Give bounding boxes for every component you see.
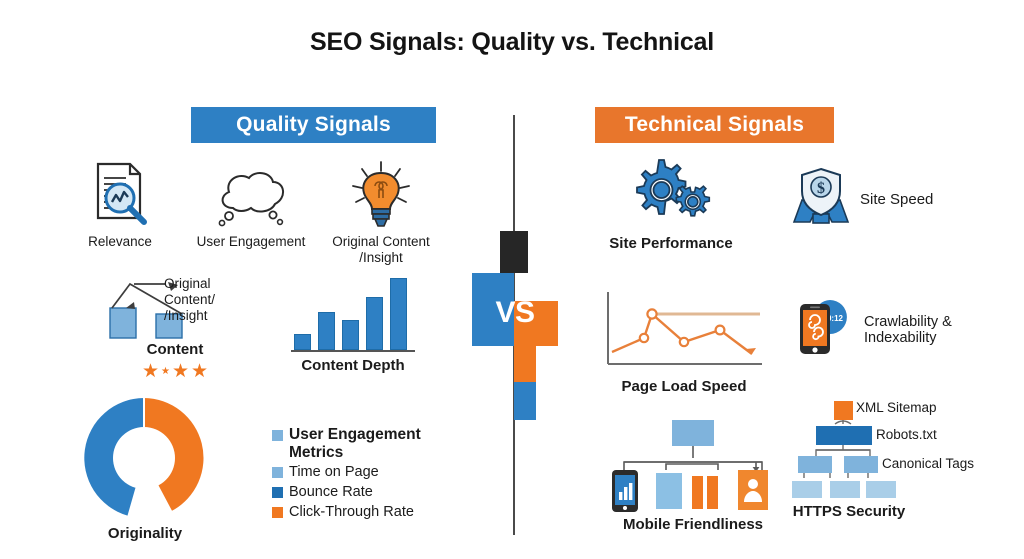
legend-swatch xyxy=(272,467,283,478)
quality-item-content-depth: Content Depth xyxy=(291,280,415,374)
document-magnifier-icon xyxy=(72,158,168,230)
technical-item-label: Site Speed xyxy=(860,192,933,208)
quality-item-label: Originality xyxy=(80,526,210,542)
technical-item-label: Crawlability & Indexability xyxy=(864,314,952,346)
lightbulb-icon xyxy=(327,158,435,230)
technical-item-label: Mobile Friendliness xyxy=(604,517,782,533)
quality-item-label: Content xyxy=(100,342,250,358)
quality-item-user-engagement: User Engagement xyxy=(190,158,312,250)
hierarchy-tree-icon: XML Sitemap Robots.txt Canonical Tags xyxy=(790,396,1014,504)
bar-arrow-chart-icon: Original Content/ /Insight xyxy=(100,278,250,340)
shield-dollar-icon: $ xyxy=(790,166,852,233)
technical-signals-banner: Technical Signals xyxy=(595,107,834,143)
legend-label: Click-Through Rate xyxy=(289,503,414,522)
bar xyxy=(390,278,407,350)
bar xyxy=(366,297,383,350)
star-icon: ★ xyxy=(161,366,170,377)
hierarchy-label-canonical-tags: Canonical Tags xyxy=(882,456,974,471)
technical-item-label: Site Performance xyxy=(608,236,734,252)
legend-swatch xyxy=(272,487,283,498)
legend-swatch xyxy=(272,430,283,441)
bar xyxy=(294,334,311,350)
quality-item-label: Relevance xyxy=(72,234,168,250)
quality-item-original-content: Original Content /Insight xyxy=(327,158,435,266)
mobile-crawl-icon: 0:12 xyxy=(794,296,856,363)
line-chart-icon xyxy=(600,290,768,377)
mobile-tree-icon xyxy=(604,418,782,517)
hierarchy-label-xml-sitemap: XML Sitemap xyxy=(856,400,937,415)
donut-chart-icon xyxy=(80,394,208,522)
star-icon: ★ xyxy=(142,360,159,383)
legend-item: Time on Page xyxy=(272,463,452,482)
quality-item-relevance: Relevance xyxy=(72,158,168,250)
quality-item-label: User Engagement xyxy=(190,234,312,250)
legend-item: Bounce Rate xyxy=(272,483,452,502)
quality-item-label: Original Content /Insight xyxy=(327,234,435,266)
vs-badge-orange-stem xyxy=(514,346,536,382)
technical-item-mobile-friendliness: Mobile Friendliness xyxy=(604,418,782,533)
gears-icon xyxy=(608,158,734,232)
legend-label: Bounce Rate xyxy=(289,483,373,502)
bar xyxy=(318,312,335,350)
technical-item-site-performance: Site Performance xyxy=(608,158,734,252)
vs-badge: VS xyxy=(472,231,558,411)
svg-text:$: $ xyxy=(817,180,825,197)
bar-chart-icon xyxy=(291,280,415,352)
quality-item-content: Original Content/ /Insight Content ★ ★ ★… xyxy=(100,278,250,383)
legend-swatch xyxy=(272,507,283,518)
content-annotation: Original Content/ /Insight xyxy=(164,276,215,324)
content-rating-stars: ★ ★ ★ ★ xyxy=(100,360,250,383)
quality-item-originality: Originality xyxy=(80,394,210,542)
star-icon: ★ xyxy=(191,360,208,383)
bar xyxy=(342,320,359,350)
hierarchy-label-robots-txt: Robots.txt xyxy=(876,427,937,442)
vs-label: VS xyxy=(472,289,558,337)
technical-item-crawlability: 0:12 Crawlability & Indexability xyxy=(794,296,1020,363)
legend-title: User Engagement Metrics xyxy=(289,426,452,462)
technical-item-https-security: XML Sitemap Robots.txt Canonical Tags HT… xyxy=(790,396,1014,520)
thought-cloud-icon xyxy=(190,158,312,230)
infographic-canvas: SEO Signals: Quality vs. Technical Quali… xyxy=(0,0,1024,559)
vs-badge-dark-segment xyxy=(500,231,528,273)
technical-item-label: Page Load Speed xyxy=(600,379,768,395)
legend-label: Time on Page xyxy=(289,463,379,482)
technical-item-label: HTTPS Security xyxy=(790,504,908,520)
vs-badge-blue-foot xyxy=(514,382,536,420)
quality-item-label: Content Depth xyxy=(291,358,415,374)
technical-item-page-load-speed: Page Load Speed xyxy=(600,290,768,395)
star-icon: ★ xyxy=(172,360,189,383)
legend-title-row: User Engagement Metrics xyxy=(272,426,452,462)
legend-item: Click-Through Rate xyxy=(272,503,452,522)
quality-signals-banner: Quality Signals xyxy=(191,107,436,143)
engagement-legend: User Engagement Metrics Time on Page Bou… xyxy=(272,426,452,523)
technical-item-site-speed: $ Site Speed xyxy=(790,166,1010,233)
page-title: SEO Signals: Quality vs. Technical xyxy=(0,28,1024,57)
